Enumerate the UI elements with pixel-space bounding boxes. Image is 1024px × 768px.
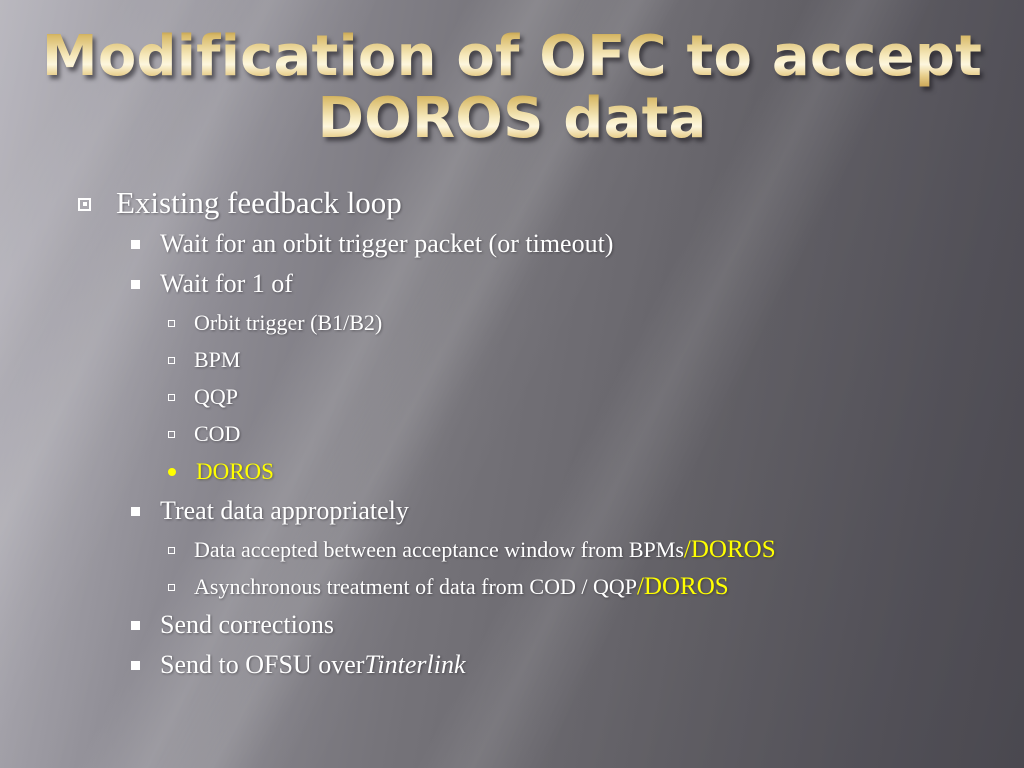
list-item-level3: BPM: [0, 341, 1024, 378]
list-item-label: Wait for an orbit trigger packet (or tim…: [160, 224, 613, 264]
square-outline-dot-bullet-icon: [78, 187, 116, 218]
list-item-label: Orbit trigger (B1/B2): [194, 304, 382, 341]
list-item-level2: Send to OFSU over Tinterlink: [0, 645, 1024, 685]
inline-highlight-doros: /DOROS: [637, 568, 729, 605]
square-filled-bullet-icon: [131, 652, 160, 678]
list-item-label: Asynchronous treatment of data from COD …: [194, 568, 637, 605]
list-item-level1: Existing feedback loop: [0, 182, 1024, 224]
square-filled-bullet-icon: [131, 271, 160, 297]
square-filled-bullet-icon: [131, 498, 160, 524]
list-item-level2: Treat data appropriately: [0, 491, 1024, 531]
list-item-label-highlight: DOROS: [196, 452, 274, 491]
list-item-level2: Wait for 1 of: [0, 264, 1024, 304]
list-item-level2: Wait for an orbit trigger packet (or tim…: [0, 224, 1024, 264]
list-item-level3: Data accepted between acceptance window …: [0, 531, 1024, 568]
list-item-level3: Orbit trigger (B1/B2): [0, 304, 1024, 341]
square-hollow-bullet-icon: [168, 423, 194, 445]
list-item-label: Send to OFSU over: [160, 645, 364, 685]
slide-title: Modification of OFC to accept DOROS data: [0, 26, 1024, 150]
list-item-label: COD: [194, 415, 240, 452]
round-dot-bullet-icon: [168, 461, 196, 483]
list-item-label: Wait for 1 of: [160, 264, 293, 304]
inline-highlight-doros: /DOROS: [684, 531, 776, 568]
title-line-1: Modification of OFC to accept: [0, 26, 1024, 88]
title-line-2: DOROS data: [0, 88, 1024, 150]
square-hollow-bullet-icon: [168, 349, 194, 371]
list-item-label: BPM: [194, 341, 240, 378]
slide-canvas: Modification of OFC to accept DOROS data…: [0, 0, 1024, 768]
list-item-level3: Asynchronous treatment of data from COD …: [0, 568, 1024, 605]
list-item-label: Data accepted between acceptance window …: [194, 531, 684, 568]
square-filled-bullet-icon: [131, 231, 160, 257]
list-item-level2: Send corrections: [0, 605, 1024, 645]
square-hollow-bullet-icon: [168, 312, 194, 334]
square-hollow-bullet-icon: [168, 539, 194, 561]
list-item-label: Treat data appropriately: [160, 491, 409, 531]
square-hollow-bullet-icon: [168, 576, 194, 598]
list-item-label: QQP: [194, 378, 238, 415]
list-item-level3-highlight: DOROS: [0, 452, 1024, 491]
slide-body-list: Existing feedback loop Wait for an orbit…: [0, 182, 1024, 685]
list-item-label: Existing feedback loop: [116, 182, 402, 224]
list-item-label: Send corrections: [160, 605, 334, 645]
list-item-level3: COD: [0, 415, 1024, 452]
square-hollow-bullet-icon: [168, 386, 194, 408]
list-item-label-italic: Tinterlink: [364, 645, 465, 685]
square-filled-bullet-icon: [131, 612, 160, 638]
list-item-level3: QQP: [0, 378, 1024, 415]
